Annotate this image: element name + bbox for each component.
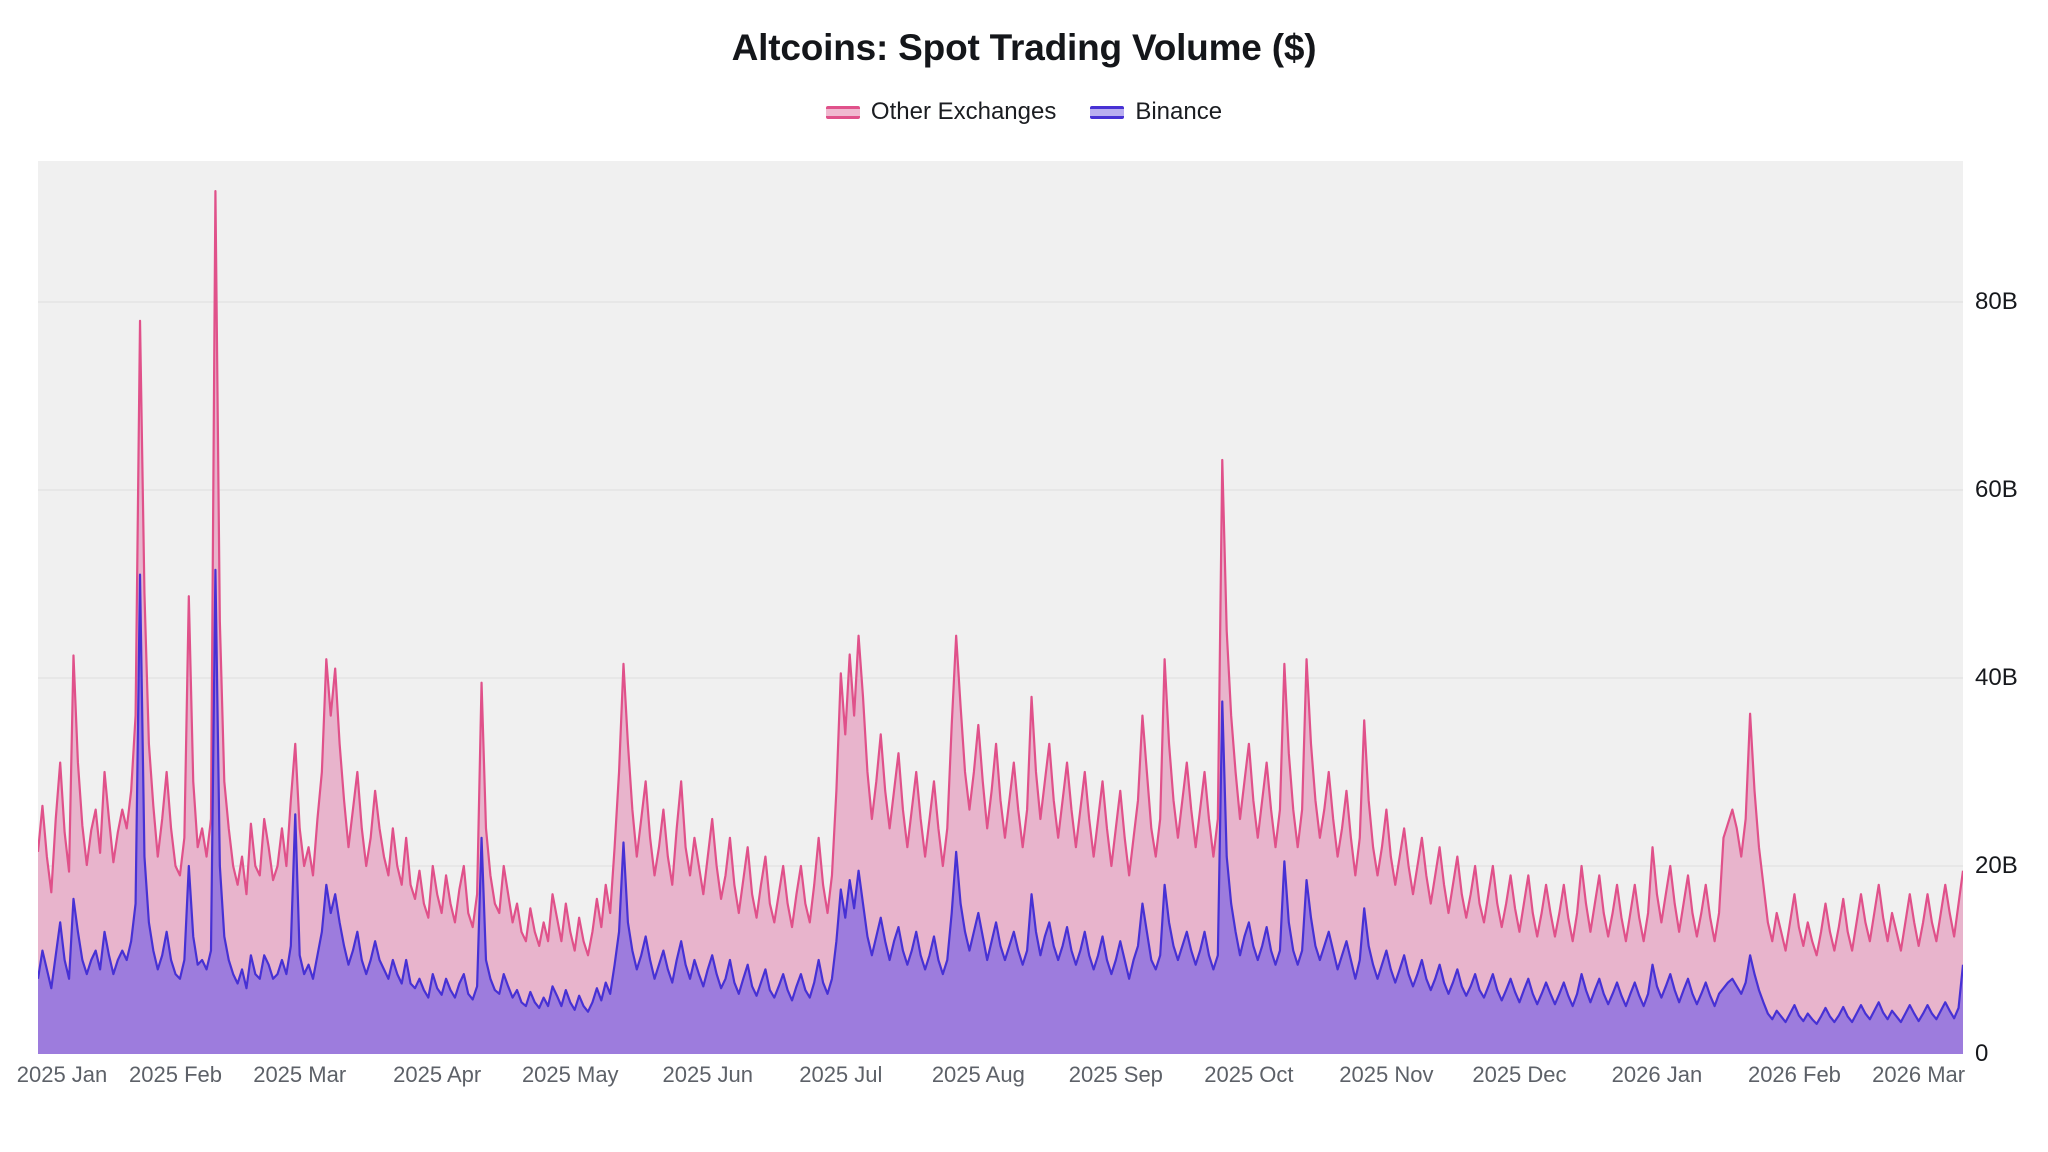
x-axis-tick-label: 2026 Feb bbox=[1748, 1062, 1841, 1088]
x-axis-tick-label: 2025 Feb bbox=[129, 1062, 222, 1088]
y-axis-tick-label: 60B bbox=[1975, 476, 2018, 504]
y-axis-tick-label: 40B bbox=[1975, 664, 2018, 692]
x-axis-tick-label: 2025 Apr bbox=[393, 1062, 481, 1088]
x-axis-tick-label: 2025 Sep bbox=[1069, 1062, 1163, 1088]
y-axis-tick-label: 80B bbox=[1975, 288, 2018, 316]
chart-title: Altcoins: Spot Trading Volume ($) bbox=[0, 28, 2048, 69]
x-axis-tick-label: 2025 Mar bbox=[253, 1062, 346, 1088]
chart-container: Altcoins: Spot Trading Volume ($) Other … bbox=[0, 0, 2048, 1152]
x-axis-tick-label: 2025 Oct bbox=[1204, 1062, 1293, 1088]
legend-item-binance[interactable]: Binance bbox=[1090, 98, 1222, 126]
x-axis-tick-label: 2025 Dec bbox=[1472, 1062, 1566, 1088]
y-axis-tick-label: 20B bbox=[1975, 852, 2018, 880]
x-axis-tick-label: 2026 Jan bbox=[1612, 1062, 1703, 1088]
legend-swatch-other-exchanges-icon bbox=[826, 106, 860, 119]
plot-area[interactable] bbox=[38, 161, 1963, 1054]
x-axis-tick-label: 2026 Mar bbox=[1872, 1062, 1965, 1088]
x-axis-tick-label: 2025 Jan bbox=[17, 1062, 108, 1088]
x-axis-tick-label: 2025 May bbox=[522, 1062, 619, 1088]
x-axis-tick-label: 2025 Aug bbox=[932, 1062, 1025, 1088]
legend-label-binance: Binance bbox=[1135, 98, 1222, 126]
legend-swatch-binance-icon bbox=[1090, 106, 1124, 119]
x-axis-tick-label: 2025 Nov bbox=[1339, 1062, 1433, 1088]
chart-legend: Other Exchanges Binance bbox=[0, 98, 2048, 126]
legend-item-other-exchanges[interactable]: Other Exchanges bbox=[826, 98, 1056, 126]
x-axis: 2025 Jan2025 Feb2025 Mar2025 Apr2025 May… bbox=[0, 1062, 2048, 1102]
x-axis-tick-label: 2025 Jun bbox=[662, 1062, 753, 1088]
legend-label-other-exchanges: Other Exchanges bbox=[871, 98, 1056, 126]
x-axis-tick-label: 2025 Jul bbox=[799, 1062, 882, 1088]
y-axis: 80B60B40B20B0 bbox=[1975, 161, 2048, 1054]
area-chart-svg bbox=[38, 161, 1963, 1054]
